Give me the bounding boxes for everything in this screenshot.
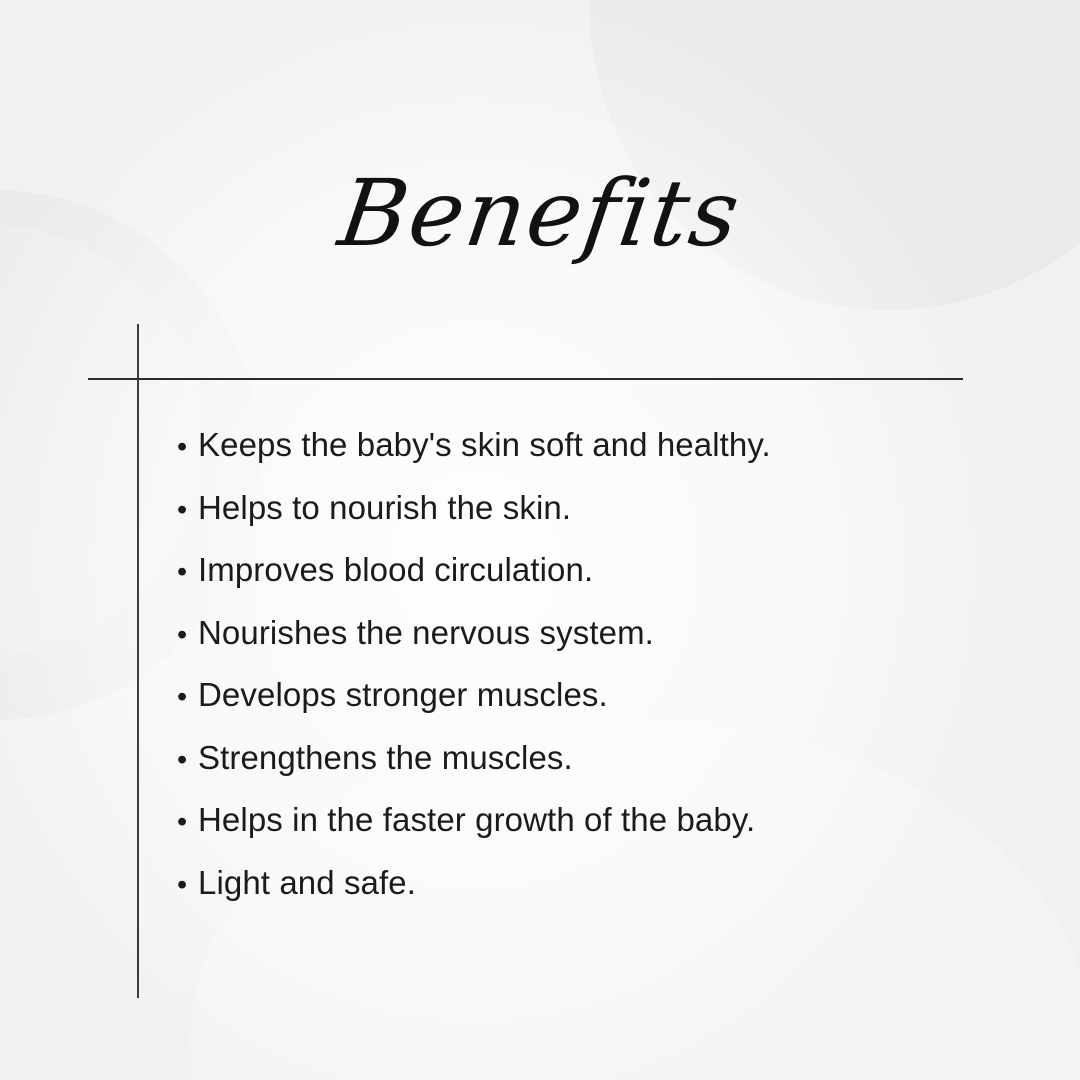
bullet-icon: • [177, 791, 198, 854]
list-item-label: Helps to nourish the skin. [198, 477, 571, 540]
list-item: • Helps to nourish the skin. [177, 477, 1007, 540]
list-item-label: Develops stronger muscles. [198, 664, 608, 727]
list-item-label: Improves blood circulation. [198, 539, 593, 602]
list-item: • Develops stronger muscles. [177, 664, 1007, 727]
bullet-icon: • [177, 541, 198, 604]
bullet-icon: • [177, 854, 198, 917]
list-item-label: Light and safe. [198, 852, 416, 915]
list-item: • Improves blood circulation. [177, 539, 1007, 602]
bullet-icon: • [177, 416, 198, 479]
bullet-icon: • [177, 479, 198, 542]
list-item: • Nourishes the nervous system. [177, 602, 1007, 665]
bullet-icon: • [177, 666, 198, 729]
poster-content: Benefits • Keeps the baby's skin soft an… [0, 0, 1080, 1080]
list-item: • Light and safe. [177, 852, 1007, 915]
bullet-icon: • [177, 604, 198, 667]
bullet-icon: • [177, 729, 198, 792]
benefits-list: • Keeps the baby's skin soft and healthy… [177, 414, 1007, 914]
list-item: • Strengthens the muscles. [177, 727, 1007, 790]
page-title: Benefits [0, 168, 1080, 260]
list-item: • Helps in the faster growth of the baby… [177, 789, 1007, 852]
horizontal-divider-line [88, 378, 963, 380]
list-item-label: Strengthens the muscles. [198, 727, 573, 790]
vertical-divider-line [137, 324, 139, 998]
list-item-label: Nourishes the nervous system. [198, 602, 654, 665]
list-item: • Keeps the baby's skin soft and healthy… [177, 414, 1007, 477]
list-item-label: Keeps the baby's skin soft and healthy. [198, 414, 771, 477]
benefits-poster: Benefits • Keeps the baby's skin soft an… [0, 0, 1080, 1080]
list-item-label: Helps in the faster growth of the baby. [198, 789, 755, 852]
